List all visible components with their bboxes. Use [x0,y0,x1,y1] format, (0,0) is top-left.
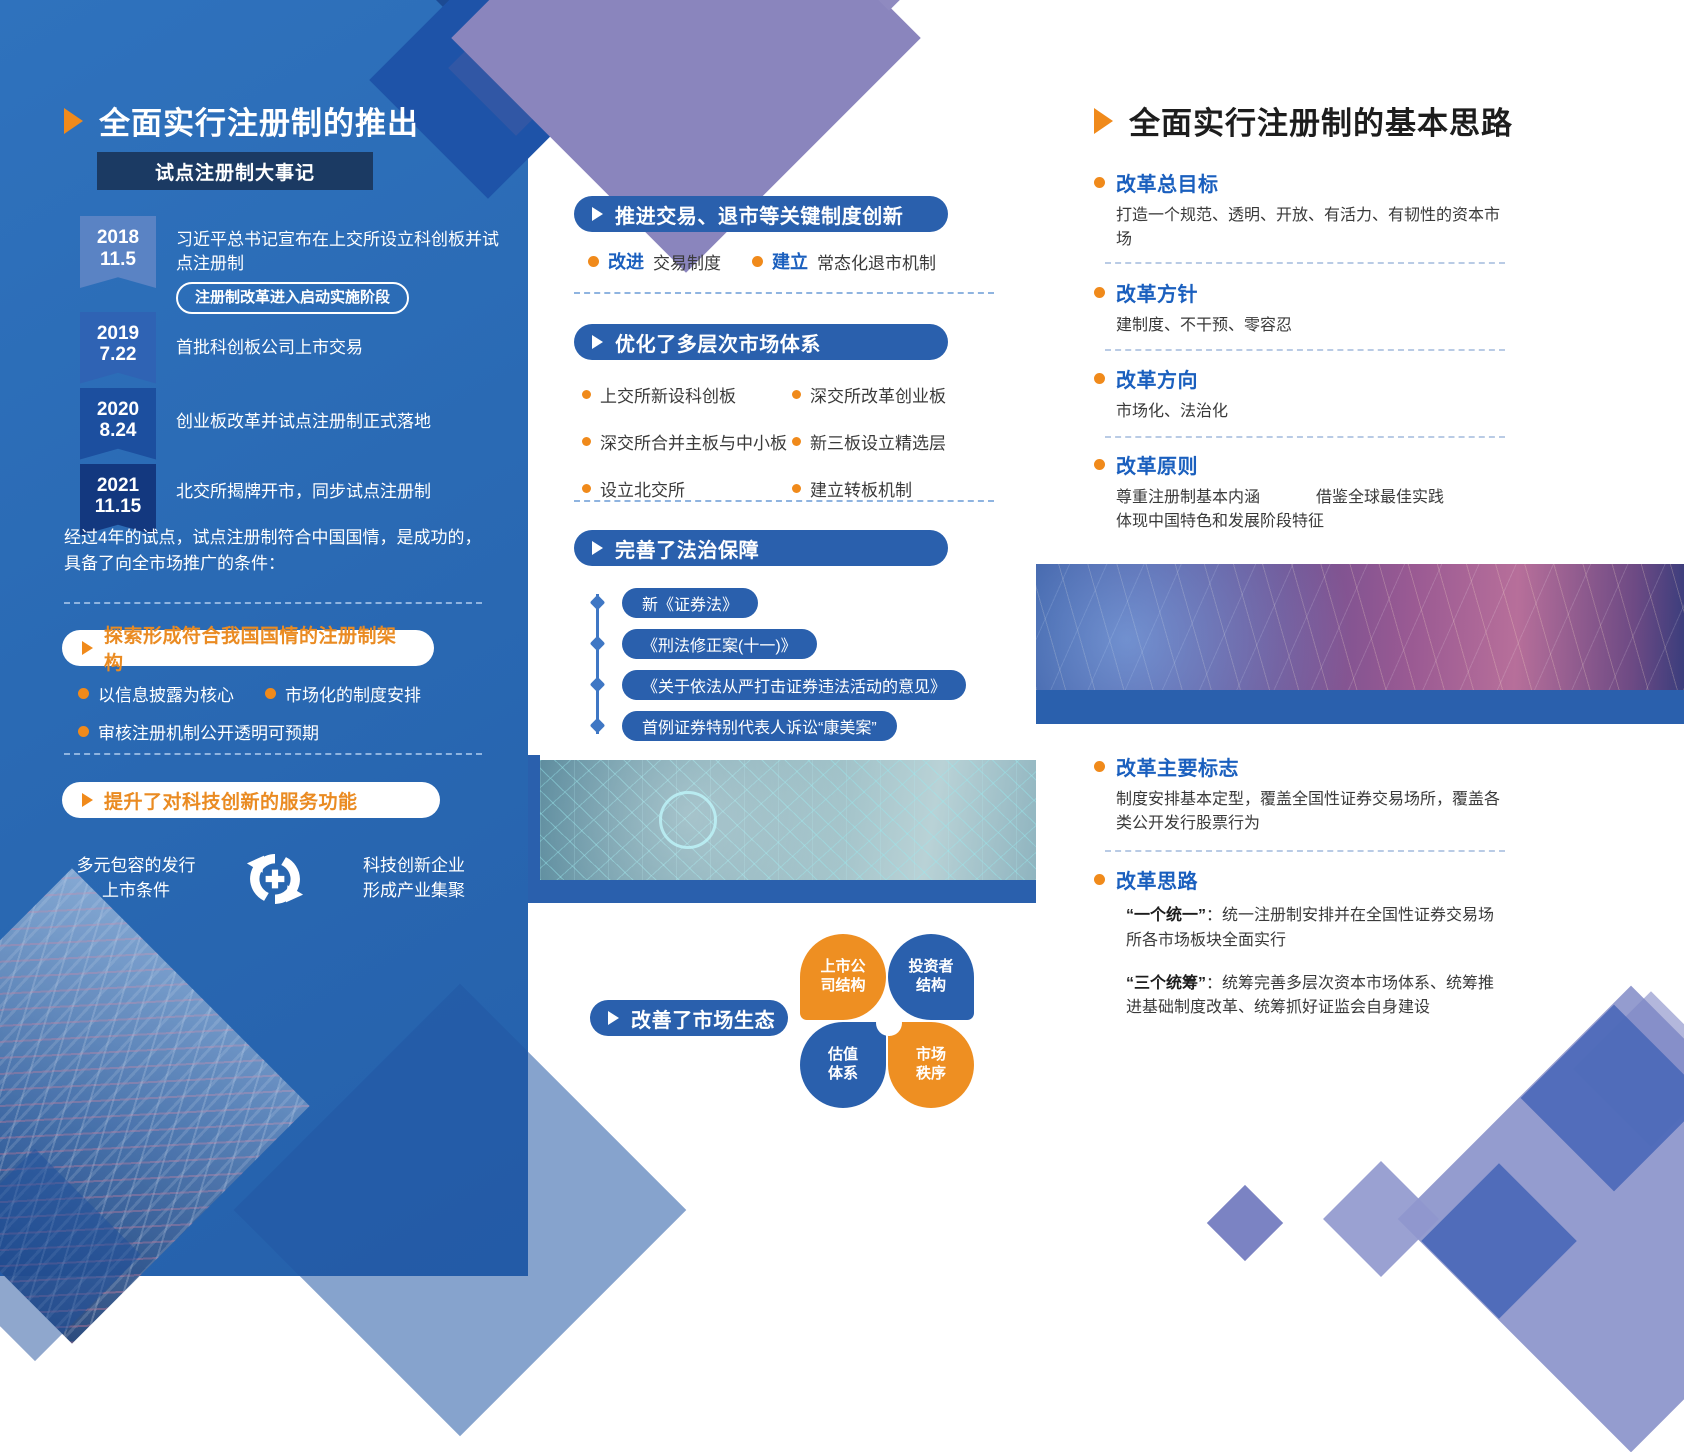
bubble-line2: 司结构 [820,977,865,996]
timeline-item: 2020 8.24 创业板改革并试点注册制正式落地 [80,388,500,460]
service-function-row: 多元包容的发行 上市条件 科技创新企业 形成产业集聚 [70,840,480,918]
right-heading-text: 改革方针 [1116,278,1198,307]
middle-inline-2-value: 常态化退市机制 [817,249,936,274]
diamond-decor-br-large [1398,986,1684,1452]
grid-item: 建立转板机制 [792,476,1002,501]
principle-col-3: 体现中国特色和发展阶段特征 [1094,510,1506,534]
recycle-plus-icon [236,840,314,918]
right-heading: 改革总目标 [1094,168,1506,197]
right-heading: 改革原则 [1094,450,1506,479]
bubble-line2: 秩序 [916,1065,946,1084]
bullet-dot-icon [792,437,801,446]
legal-item: 《刑法修正案(十一)》 [592,629,992,659]
grid-item: 深交所改革创业板 [792,382,1002,407]
divider-left-2 [64,753,482,755]
bullet-dot-icon [582,437,591,446]
diamond-decor-br-small [1207,1185,1283,1261]
timeline-day: 7.22 [80,344,156,366]
diamond-decor-dark-blue [234,984,687,1437]
timeline-day: 8.24 [80,420,156,442]
bullet-dot-icon [1094,874,1105,885]
grid-item: 上交所新设科创板 [582,382,792,407]
corner-triangle-decor [436,0,528,92]
right-section-principles: 改革原则 尊重注册制基本内涵 借鉴全球最佳实践 体现中国特色和发展阶段特征 [1094,450,1506,534]
bubble-center-dot [876,1010,902,1036]
legal-item-label: 《刑法修正案(十一)》 [622,629,817,659]
grid-item: 设立北交所 [582,476,792,501]
service-right-line2: 形成产业集聚 [348,879,480,904]
middle-heading-ecology: 改善了市场生态 [590,1000,788,1036]
left-pill-architecture: 探索形成符合我国国情的注册制架构 [62,630,434,666]
right-heading-text: 改革思路 [1116,865,1198,894]
right-heading-text: 改革主要标志 [1116,752,1239,781]
right-section-milestone: 改革主要标志 制度安排基本定型，覆盖全国性证券交易场所，覆盖各类公开发行股票行为 [1094,752,1506,836]
left-pill-1-text: 探索形成符合我国国情的注册制架构 [104,621,414,675]
left-subtitle-text: 试点注册制大事记 [155,158,315,185]
diamond-decor-purple-small [852,0,926,11]
white-block-decor [876,0,916,44]
left-bullet-text: 市场化的制度安排 [285,681,421,706]
right-heading: 改革方针 [1094,278,1506,307]
triangle-bullet-icon [608,1011,619,1025]
bullet-dot-icon [582,390,591,399]
triangle-bullet-icon [64,108,83,134]
middle-inline-1-key: 改进 [608,248,644,274]
timeline-list: 2018 11.5 习近平总书记宣布在上交所设立科创板并试点注册制 注册制改革进… [80,216,500,540]
grid-item-label: 深交所改革创业板 [810,382,946,407]
ecology-bubble-cluster: 上市公 司结构 投资者 结构 估值 体系 市场 秩序 [800,934,978,1112]
timeline-node-icon [590,718,606,734]
legal-item: 新《证券法》 [592,588,992,618]
grid-row: 深交所合并主板与中小板 新三板设立精选层 [582,429,1002,454]
timeline-text: 习近平总书记宣布在上交所设立科创板并试点注册制 [176,228,500,276]
bullet-dot-icon [78,726,89,737]
triangle-bullet-icon [592,541,603,555]
left-bullet-item: 以信息披露为核心 [78,681,234,706]
middle-inline-item-2: 建立 常态化退市机制 [752,248,936,274]
diamond-photo-stock-chart [0,868,310,1343]
timeline-year: 2018 [80,227,156,249]
right-section-policy: 改革方针 建制度、不干预、零容忍 [1094,278,1506,338]
divider-left-1 [64,602,482,604]
right-heading-text: 改革总目标 [1116,168,1219,197]
approach-1-key: “一个统一” [1126,907,1206,924]
grid-item-label: 深交所合并主板与中小板 [600,429,787,454]
triangle-bullet-icon [592,207,603,221]
bubble-line1: 上市公 [820,958,865,977]
bubble-line1: 市场 [916,1046,946,1065]
bubble-line2: 结构 [908,977,953,996]
right-heading: 改革思路 [1094,865,1506,894]
timeline-year: 2020 [80,399,156,421]
diamond-decor-br-mid [1521,1005,1684,1192]
timeline-text: 创业板改革并试点注册制正式落地 [156,388,431,434]
bullet-dot-icon [752,256,763,267]
timeline-node-icon [590,595,606,611]
infographic-page: 全面实行注册制的推出 试点注册制大事记 2018 11.5 习近平总书记宣布在上… [0,0,1684,1276]
bullet-dot-icon [1094,287,1105,298]
grid-item-label: 设立北交所 [600,476,685,501]
timeline-year: 2019 [80,323,156,345]
approach-2-key: “三个统筹” [1126,975,1206,992]
bubble-listed-company-structure: 上市公 司结构 [800,934,886,1020]
timeline-day: 11.5 [80,249,156,271]
legal-item-label: 新《证券法》 [622,588,758,618]
right-section-goal: 改革总目标 打造一个规范、透明、开放、有活力、有韧性的资本市场 [1094,168,1506,252]
grid-row: 上交所新设科创板 深交所改革创业板 [582,382,1002,407]
middle-blue-strip-vertical [528,755,540,879]
legal-item-label: 《关于依法从严打击证券违法活动的意见》 [622,670,966,700]
photo-city-harbor [1036,564,1684,690]
diamond-decor-br-three [1323,1161,1439,1277]
middle-inline-2-key: 建立 [772,248,808,274]
bullet-dot-icon [1094,373,1105,384]
grid-item-label: 新三板设立精选层 [810,429,946,454]
photo-global-network [540,760,1036,880]
left-note-text: 经过4年的试点，试点注册制符合中国国情，是成功的，具备了向全市场推广的条件： [64,525,484,576]
bubble-line2: 体系 [828,1065,858,1084]
timeline-day: 11.15 [80,496,156,518]
bullet-dot-icon [265,688,276,699]
divider-right-2 [1105,349,1505,351]
bubble-investor-structure: 投资者 结构 [888,934,974,1020]
diamond-decor-left-bottom [0,1149,141,1361]
left-bullet-text: 以信息披露为核心 [98,681,234,706]
bullet-dot-icon [792,390,801,399]
photo-bottom-blue-bar [1036,690,1684,724]
middle-heading-legal: 完善了法治保障 [574,530,948,566]
bullet-dot-icon [582,484,591,493]
left-pill-service: 提升了对科技创新的服务功能 [62,782,440,818]
right-section-direction: 改革方向 市场化、法治化 [1094,364,1506,424]
divider-right-1 [1105,262,1505,264]
service-left-line2: 上市条件 [70,879,202,904]
divider-middle-2 [574,500,994,502]
timeline-text: 首批科创板公司上市交易 [156,312,363,360]
right-title-text: 全面实行注册制的基本思路 [1129,98,1513,143]
left-subtitle-bar: 试点注册制大事记 [97,152,373,190]
timeline-date-badge: 2018 11.5 [80,216,156,288]
right-body-text: 制度安排基本定型，覆盖全国性证券交易场所，覆盖各类公开发行股票行为 [1094,788,1506,836]
triangle-bullet-icon [82,641,93,655]
bubble-valuation-system: 估值 体系 [800,1022,886,1108]
legal-timeline: 新《证券法》 《刑法修正案(十一)》 《关于依法从严打击证券违法活动的意见》 首… [592,588,992,752]
right-body-text: 市场化、法治化 [1094,400,1506,424]
bubble-market-order: 市场 秩序 [888,1022,974,1108]
timeline-year: 2021 [80,475,156,497]
divider-middle-1 [574,292,994,294]
timeline-pill-label: 注册制改革进入启动实施阶段 [176,282,409,313]
middle-heading-4-text: 改善了市场生态 [631,1004,775,1033]
left-bullet-item: 审核注册机制公开透明可预期 [78,719,319,744]
middle-heading-3-text: 完善了法治保障 [615,534,759,563]
right-heading: 改革主要标志 [1094,752,1506,781]
legal-item: 首例证券特别代表人诉讼“康美案” [592,711,992,741]
grid-item: 深交所合并主板与中小板 [582,429,792,454]
bubble-line1: 估值 [828,1046,858,1065]
left-title-text: 全面实行注册制的推出 [99,98,419,143]
timeline-date-badge: 2019 7.22 [80,312,156,384]
bullet-dot-icon [1094,459,1105,470]
right-section-title: 全面实行注册制的基本思路 [1094,98,1513,143]
bullet-dot-icon [1094,761,1105,772]
left-bullet-text: 审核注册机制公开透明可预期 [98,719,319,744]
middle-inline-item-1: 改进 交易制度 [588,248,721,274]
service-left-line1: 多元包容的发行 [70,854,202,879]
triangle-bullet-icon [592,335,603,349]
service-right-label: 科技创新企业 形成产业集聚 [348,854,480,903]
bullet-dot-icon [1094,177,1105,188]
timeline-body: 习近平总书记宣布在上交所设立科创板并试点注册制 注册制改革进入启动实施阶段 [156,216,500,314]
bullet-dot-icon [78,688,89,699]
middle-heading-1-text: 推进交易、退市等关键制度创新 [615,200,903,229]
middle-heading-2-text: 优化了多层次市场体系 [615,328,821,357]
timeline-item: 2019 7.22 首批科创板公司上市交易 [80,312,500,384]
diamond-decor-navy-small [448,0,584,136]
divider-right-3 [1105,436,1505,438]
principle-col-1: 尊重注册制基本内涵 [1116,486,1260,510]
timeline-text: 北交所揭牌开市，同步试点注册制 [156,464,431,504]
bubble-line1: 投资者 [908,958,953,977]
right-section-approach: 改革思路 “一个统一”：统一注册制安排并在全国性证券交易场所各市场板块全面实行 … [1094,865,1506,1021]
grid-item-label: 上交所新设科创板 [600,382,736,407]
bullet-dot-icon [792,484,801,493]
middle-heading-trading-reform: 推进交易、退市等关键制度创新 [574,196,948,232]
bullet-dot-icon [588,256,599,267]
principle-col-2: 借鉴全球最佳实践 [1316,486,1444,510]
divider-right-4 [1105,850,1505,852]
right-heading-text: 改革原则 [1116,450,1198,479]
diamond-decor-br-pale [1573,991,1684,1147]
right-body-text: 打造一个规范、透明、开放、有活力、有韧性的资本市场 [1094,204,1506,252]
approach-item-1: “一个统一”：统一注册制安排并在全国性证券交易场所各市场板块全面实行 [1094,904,1506,954]
left-bullet-item: 市场化的制度安排 [265,681,421,706]
timeline-node-icon [590,677,606,693]
grid-item-label: 建立转板机制 [810,476,912,501]
right-principles-columns: 尊重注册制基本内涵 借鉴全球最佳实践 [1094,486,1506,510]
legal-item-label: 首例证券特别代表人诉讼“康美案” [622,711,897,741]
service-left-label: 多元包容的发行 上市条件 [70,854,202,903]
timeline-date-badge: 2020 8.24 [80,388,156,460]
left-section-title: 全面实行注册制的推出 [64,98,419,143]
right-heading: 改革方向 [1094,364,1506,393]
approach-item-2: “三个统筹”：统筹完善多层次资本市场体系、统筹推进基础制度改革、统筹抓好证监会自… [1094,972,1506,1022]
timeline-item: 2018 11.5 习近平总书记宣布在上交所设立科创板并试点注册制 注册制改革进… [80,216,500,314]
right-body-text: 建制度、不干预、零容忍 [1094,314,1506,338]
grid-row: 设立北交所 建立转板机制 [582,476,1002,501]
right-heading-text: 改革方向 [1116,364,1198,393]
timeline-node-icon [590,636,606,652]
grid-item: 新三板设立精选层 [792,429,1002,454]
triangle-bullet-icon [82,793,93,807]
middle-heading-market-system: 优化了多层次市场体系 [574,324,948,360]
service-right-line1: 科技创新企业 [348,854,480,879]
diamond-decor-br-two [1421,1163,1577,1319]
triangle-bullet-icon [1094,108,1113,134]
middle-blue-strip [528,879,1036,903]
middle-inline-1-value: 交易制度 [653,249,721,274]
left-pill-2-text: 提升了对科技创新的服务功能 [104,787,358,814]
legal-item: 《关于依法从严打击证券违法活动的意见》 [592,670,992,700]
